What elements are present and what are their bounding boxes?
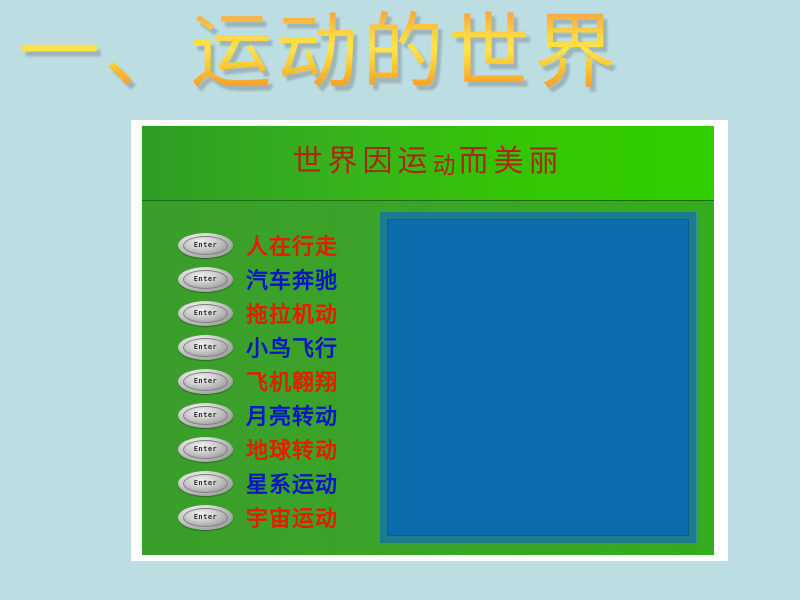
enter-button-label: Enter <box>178 479 233 487</box>
list-item[interactable]: Enter 宇宙运动 <box>178 500 368 534</box>
menu-item-label-5[interactable]: 月亮转动 <box>246 399 338 431</box>
menu-item-label-0[interactable]: 人在行走 <box>246 229 338 261</box>
media-panel-screen[interactable] <box>387 219 689 536</box>
enter-button-3[interactable]: Enter <box>178 335 233 360</box>
enter-button-label: Enter <box>178 513 233 521</box>
list-item[interactable]: Enter 月亮转动 <box>178 398 368 432</box>
banner: 世界因运动而美丽 <box>142 126 714 201</box>
enter-button-label: Enter <box>178 377 233 385</box>
menu-item-label-4[interactable]: 飞机翱翔 <box>246 365 338 397</box>
enter-button-0[interactable]: Enter <box>178 233 233 258</box>
menu-item-label-2[interactable]: 拖拉机动 <box>246 297 338 329</box>
banner-title: 世界因运动而美丽 <box>142 136 714 180</box>
enter-button-7[interactable]: Enter <box>178 471 233 496</box>
list-item[interactable]: Enter 地球转动 <box>178 432 368 466</box>
slide-body: 世界因运动而美丽 Enter 人在行走 Enter 汽车奔驰 Enter 拖拉机… <box>142 126 714 555</box>
list-item[interactable]: Enter 小鸟飞行 <box>178 330 368 364</box>
list-item[interactable]: Enter 人在行走 <box>178 228 368 262</box>
banner-title-part-small: 动 <box>433 153 459 179</box>
enter-button-4[interactable]: Enter <box>178 369 233 394</box>
enter-button-label: Enter <box>178 275 233 283</box>
enter-button-label: Enter <box>178 411 233 419</box>
menu-item-label-1[interactable]: 汽车奔驰 <box>246 263 338 295</box>
enter-button-label: Enter <box>178 343 233 351</box>
enter-button-label: Enter <box>178 309 233 317</box>
enter-button-label: Enter <box>178 445 233 453</box>
menu-item-label-8[interactable]: 宇宙运动 <box>246 501 338 533</box>
enter-button-5[interactable]: Enter <box>178 403 233 428</box>
menu-list: Enter 人在行走 Enter 汽车奔驰 Enter 拖拉机动 Enter 小… <box>178 228 368 534</box>
banner-title-part-2: 而美丽 <box>459 144 564 179</box>
menu-item-label-3[interactable]: 小鸟飞行 <box>246 331 338 363</box>
banner-title-part-1: 世界因运 <box>293 144 433 179</box>
enter-button-1[interactable]: Enter <box>178 267 233 292</box>
page-title: 一、运动的世界 <box>18 0 620 108</box>
slide-content-area: Enter 人在行走 Enter 汽车奔驰 Enter 拖拉机动 Enter 小… <box>142 201 714 555</box>
list-item[interactable]: Enter 飞机翱翔 <box>178 364 368 398</box>
menu-item-label-7[interactable]: 星系运动 <box>246 467 338 499</box>
list-item[interactable]: Enter 汽车奔驰 <box>178 262 368 296</box>
enter-button-8[interactable]: Enter <box>178 505 233 530</box>
media-panel[interactable] <box>379 211 697 544</box>
list-item[interactable]: Enter 星系运动 <box>178 466 368 500</box>
enter-button-label: Enter <box>178 241 233 249</box>
enter-button-2[interactable]: Enter <box>178 301 233 326</box>
slide-card: 世界因运动而美丽 Enter 人在行走 Enter 汽车奔驰 Enter 拖拉机… <box>131 120 728 561</box>
menu-item-label-6[interactable]: 地球转动 <box>246 433 338 465</box>
list-item[interactable]: Enter 拖拉机动 <box>178 296 368 330</box>
enter-button-6[interactable]: Enter <box>178 437 233 462</box>
